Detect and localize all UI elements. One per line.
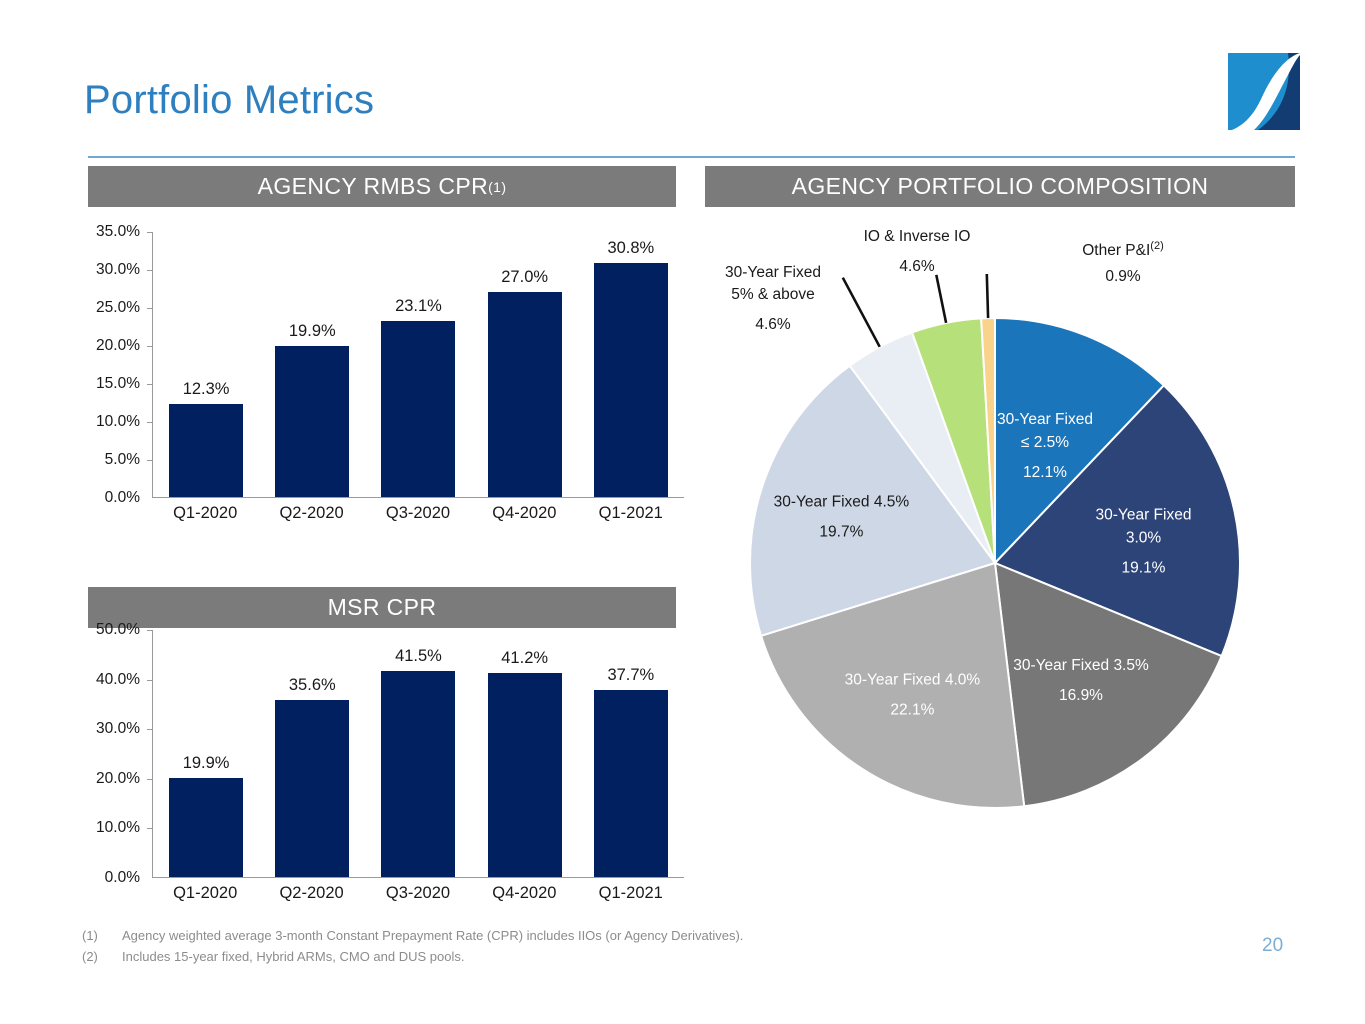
y-axis-tick <box>147 346 153 347</box>
y-axis-tick-label: 25.0% <box>96 299 140 317</box>
bar <box>381 321 455 497</box>
y-axis-tick <box>147 270 153 271</box>
plot-area: 19.9%35.6%41.5%41.2%37.7% <box>152 630 684 878</box>
section-header-label: AGENCY PORTFOLIO COMPOSITION <box>792 173 1209 200</box>
bar <box>381 671 455 877</box>
footnote-number: (1) <box>82 925 122 946</box>
y-axis-tick-label: 50.0% <box>96 621 140 639</box>
x-axis-tick-label: Q2-2020 <box>261 884 362 903</box>
bar-value-label: 35.6% <box>289 676 336 695</box>
bar-slot: 41.2% <box>474 630 575 877</box>
chart-agency-rmbs-cpr: 0.0%5.0%10.0%15.0%20.0%25.0%30.0%35.0% 1… <box>84 232 684 532</box>
x-axis-tick-label: Q1-2020 <box>155 884 256 903</box>
section-header-msr-cpr: MSR CPR <box>88 587 676 628</box>
bar-value-label: 41.2% <box>501 649 548 668</box>
y-axis-tick-label: 30.0% <box>96 261 140 279</box>
y-axis-labels: 0.0%10.0%20.0%30.0%40.0%50.0% <box>84 630 146 878</box>
bar-series: 12.3%19.9%23.1%27.0%30.8% <box>153 232 684 497</box>
bar-value-label: 23.1% <box>395 297 442 316</box>
company-logo <box>1228 53 1300 130</box>
y-axis-tick-label: 0.0% <box>105 869 140 887</box>
bar <box>275 346 349 497</box>
footnote-text: Includes 15-year fixed, Hybrid ARMs, CMO… <box>122 946 464 967</box>
y-axis-tick <box>147 384 153 385</box>
header-divider <box>88 156 1295 158</box>
y-axis-tick <box>147 308 153 309</box>
pie-svg: 30-Year Fixed≤ 2.5%12.1%30-Year Fixed3.0… <box>705 225 1305 850</box>
chart-msr-cpr: 0.0%10.0%20.0%30.0%40.0%50.0% 19.9%35.6%… <box>84 630 684 915</box>
x-axis-tick-label: Q3-2020 <box>367 884 468 903</box>
y-axis-tick-label: 15.0% <box>96 375 140 393</box>
bar-value-label: 19.9% <box>183 754 230 773</box>
y-axis-tick <box>147 460 153 461</box>
y-axis-labels: 0.0%5.0%10.0%15.0%20.0%25.0%30.0%35.0% <box>84 232 146 498</box>
page-title: Portfolio Metrics <box>84 78 374 123</box>
footnote-number: (2) <box>82 946 122 967</box>
y-axis-tick-label: 10.0% <box>96 413 140 431</box>
x-axis-tick-label: Q1-2021 <box>580 504 681 523</box>
bar-slot: 41.5% <box>368 630 469 877</box>
slide: Portfolio Metrics AGENCY RMBS CPR(1) MSR… <box>0 0 1365 1024</box>
y-axis-tick-label: 30.0% <box>96 720 140 738</box>
footnote-text: Agency weighted average 3-month Constant… <box>122 925 743 946</box>
y-axis-tick <box>147 422 153 423</box>
y-axis-tick-label: 40.0% <box>96 671 140 689</box>
bar <box>594 690 668 877</box>
bar-value-label: 19.9% <box>289 322 336 341</box>
bar-slot: 19.9% <box>156 630 257 877</box>
y-axis-tick-label: 20.0% <box>96 770 140 788</box>
pie-slice-label: 30-Year Fixed5% & above4.6% <box>725 264 821 333</box>
x-axis-tick-label: Q1-2020 <box>155 504 256 523</box>
x-axis-tick-label: Q4-2020 <box>474 884 575 903</box>
bar-slot: 23.1% <box>368 232 469 497</box>
section-header-label: AGENCY RMBS CPR <box>258 173 489 200</box>
y-axis-tick <box>147 729 153 730</box>
pie-leader-line <box>987 274 988 318</box>
bar-value-label: 41.5% <box>395 647 442 666</box>
x-axis-tick-label: Q2-2020 <box>261 504 362 523</box>
footnotes: (1)Agency weighted average 3-month Const… <box>82 925 743 967</box>
pie-leader-line <box>936 275 946 323</box>
bar-value-label: 12.3% <box>183 380 230 399</box>
x-axis-tick-label: Q1-2021 <box>580 884 681 903</box>
y-axis-tick-label: 5.0% <box>105 451 140 469</box>
bar-series: 19.9%35.6%41.5%41.2%37.7% <box>153 630 684 877</box>
x-axis-labels: Q1-2020Q2-2020Q3-2020Q4-2020Q1-2021 <box>152 884 684 903</box>
pie-leader-line <box>843 278 880 347</box>
x-axis-tick-label: Q4-2020 <box>474 504 575 523</box>
footnote: (1)Agency weighted average 3-month Const… <box>82 925 743 946</box>
x-axis-labels: Q1-2020Q2-2020Q3-2020Q4-2020Q1-2021 <box>152 504 684 523</box>
bar-value-label: 30.8% <box>607 239 654 258</box>
pie-slice-label: Other P&I(2)0.9% <box>1082 240 1164 285</box>
section-header-agency-portfolio-composition: AGENCY PORTFOLIO COMPOSITION <box>705 166 1295 207</box>
y-axis-tick <box>147 232 153 233</box>
x-axis-tick-label: Q3-2020 <box>367 504 468 523</box>
y-axis-tick-label: 20.0% <box>96 337 140 355</box>
bar-value-label: 37.7% <box>607 666 654 685</box>
bar-slot: 12.3% <box>156 232 257 497</box>
bar-slot: 27.0% <box>474 232 575 497</box>
bar-slot: 30.8% <box>580 232 681 497</box>
bar <box>169 404 243 497</box>
bar-slot: 19.9% <box>262 232 363 497</box>
y-axis-tick <box>147 680 153 681</box>
y-axis-tick-label: 0.0% <box>105 489 140 507</box>
y-axis-tick-label: 10.0% <box>96 819 140 837</box>
section-header-agency-rmbs-cpr: AGENCY RMBS CPR(1) <box>88 166 676 207</box>
bar-value-label: 27.0% <box>501 268 548 287</box>
bar-slot: 37.7% <box>580 630 681 877</box>
bar-slot: 35.6% <box>262 630 363 877</box>
page-number: 20 <box>1262 935 1283 957</box>
chart-agency-portfolio-composition: 30-Year Fixed≤ 2.5%12.1%30-Year Fixed3.0… <box>705 225 1305 850</box>
y-axis-tick <box>147 630 153 631</box>
pie-slice-label: IO & Inverse IO4.6% <box>864 228 971 275</box>
y-axis-tick <box>147 828 153 829</box>
y-axis-tick-label: 35.0% <box>96 223 140 241</box>
y-axis-tick <box>147 779 153 780</box>
bar <box>275 700 349 877</box>
plot-area: 12.3%19.9%23.1%27.0%30.8% <box>152 232 684 498</box>
bar <box>488 292 562 497</box>
bar <box>169 778 243 877</box>
bar <box>594 263 668 497</box>
bar <box>488 673 562 877</box>
section-header-label: MSR CPR <box>328 594 437 621</box>
footnote: (2)Includes 15-year fixed, Hybrid ARMs, … <box>82 946 743 967</box>
